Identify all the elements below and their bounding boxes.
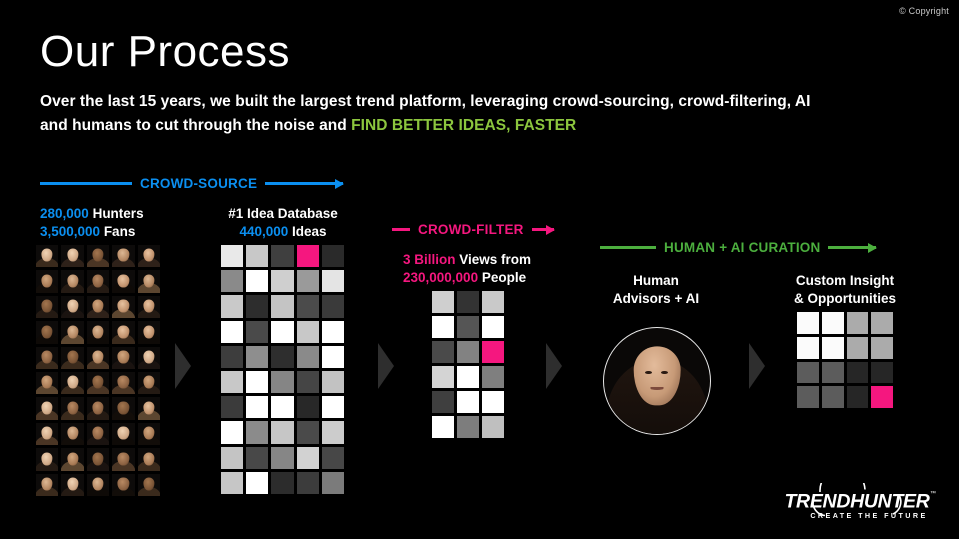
grid-cell: [457, 416, 479, 438]
grid-cell: [847, 337, 869, 359]
hunter-face-tile: [112, 423, 134, 445]
grid-cell: [457, 316, 479, 338]
grid-cell: [322, 346, 344, 368]
hunter-face-tile: [87, 321, 109, 343]
grid-cell: [221, 295, 243, 317]
grid-cell: [457, 341, 479, 363]
hunter-face-tile: [61, 245, 83, 267]
grid-cell: [246, 371, 268, 393]
grid-cell: [297, 472, 319, 494]
hunter-face-tile: [112, 372, 134, 394]
hunter-face-tile: [138, 448, 160, 470]
crowd-source-label: CROWD-SOURCE: [140, 176, 257, 191]
grid-cell: [246, 245, 268, 267]
hunter-face-tile: [87, 372, 109, 394]
grid-cell: [246, 321, 268, 343]
grid-cell: [797, 386, 819, 408]
grid-cell: [271, 396, 293, 418]
hunter-face-tile: [61, 423, 83, 445]
hunter-face-tile: [61, 474, 83, 496]
grid-cell: [432, 391, 454, 413]
hunter-face-tile: [61, 397, 83, 419]
section-header-human-ai: HUMAN + AI CURATION: [600, 240, 876, 255]
grid-cell: [297, 321, 319, 343]
human-ai-arrow-right: [828, 246, 876, 249]
grid-cell: [432, 416, 454, 438]
custom-insight-line-1: Custom Insight: [776, 272, 914, 290]
grid-cell: [297, 295, 319, 317]
hunter-face-tile: [112, 397, 134, 419]
grid-cell: [482, 341, 504, 363]
hunter-face-tile: [36, 372, 58, 394]
hunter-face-tile: [61, 347, 83, 369]
grid-cell: [246, 396, 268, 418]
hunter-face-tile: [138, 397, 160, 419]
grid-cell: [322, 321, 344, 343]
grid-cell: [271, 321, 293, 343]
grid-cell: [822, 312, 844, 334]
grid-cell: [221, 472, 243, 494]
chevron-separator-3: [546, 343, 562, 389]
subtitle-text: Over the last 15 years, we built the lar…: [40, 90, 840, 137]
idea-database-grid: [221, 245, 344, 494]
grid-cell: [871, 337, 893, 359]
grid-cell: [432, 291, 454, 313]
logo-tagline: CREATE THE FUTURE: [810, 511, 927, 520]
grid-cell: [322, 245, 344, 267]
ideas-label: Ideas: [288, 224, 326, 239]
grid-cell: [246, 270, 268, 292]
hunter-face-tile: [138, 270, 160, 292]
grid-cell: [221, 346, 243, 368]
grid-cell: [432, 316, 454, 338]
grid-cell: [271, 371, 293, 393]
grid-cell: [797, 312, 819, 334]
logo-wordmark: TRENDHUNTER: [784, 491, 929, 513]
hunter-face-tile: [61, 321, 83, 343]
ideas-number: 440,000: [239, 224, 288, 239]
hunter-face-tile: [87, 245, 109, 267]
views-label: Views from: [456, 252, 532, 267]
hunter-face-tile: [138, 245, 160, 267]
crowd-filter-grid: [432, 291, 504, 438]
grid-cell: [482, 416, 504, 438]
grid-cell: [822, 386, 844, 408]
grid-cell: [797, 362, 819, 384]
advisor-face-features: [604, 328, 710, 434]
page-title: Our Process: [40, 30, 290, 74]
grid-cell: [847, 386, 869, 408]
grid-cell: [297, 346, 319, 368]
grid-cell: [432, 366, 454, 388]
custom-insight-grid: [797, 312, 893, 408]
caption-views-people: 3 Billion Views from 230,000,000 People: [403, 251, 531, 287]
hunter-face-tile: [112, 321, 134, 343]
grid-cell: [457, 391, 479, 413]
grid-cell: [271, 447, 293, 469]
human-ai-label: HUMAN + AI CURATION: [664, 240, 820, 255]
hunter-face-tile: [61, 372, 83, 394]
trendhunter-logo: TRENDHUNTER ™ CREATE THE FUTURE: [773, 483, 941, 525]
section-header-crowd-source: CROWD-SOURCE: [40, 176, 343, 191]
grid-cell: [871, 386, 893, 408]
caption-idea-database: #1 Idea Database 440,000 Ideas: [220, 205, 346, 241]
hunter-face-tile: [112, 296, 134, 318]
hunter-face-tile: [112, 245, 134, 267]
grid-cell: [322, 295, 344, 317]
hunter-face-tile: [61, 448, 83, 470]
grid-cell: [482, 316, 504, 338]
grid-cell: [822, 337, 844, 359]
hunter-face-tile: [36, 474, 58, 496]
human-ai-rule-left: [600, 246, 656, 249]
idea-database-title: #1 Idea Database: [220, 205, 346, 223]
grid-cell: [822, 362, 844, 384]
grid-cell: [297, 245, 319, 267]
hunter-face-tile: [138, 423, 160, 445]
slide-canvas: © Copyright Our Process Over the last 15…: [0, 0, 959, 539]
crowd-source-arrow-right: [265, 182, 343, 185]
views-number: 3 Billion: [403, 252, 456, 267]
hunter-face-tile: [87, 397, 109, 419]
crowd-filter-arrow-right: [532, 228, 554, 231]
hunter-face-tile: [87, 423, 109, 445]
advisor-portrait-avatar: [603, 327, 711, 435]
subtitle-line-1: Over the last 15 years, we built the lar…: [40, 93, 810, 110]
grid-cell: [432, 341, 454, 363]
human-advisors-line-1: Human: [586, 272, 726, 290]
hunters-number: 280,000: [40, 206, 89, 221]
grid-cell: [322, 472, 344, 494]
grid-cell: [457, 291, 479, 313]
grid-cell: [221, 396, 243, 418]
hunter-face-tile: [87, 270, 109, 292]
hunter-face-tile: [87, 296, 109, 318]
grid-cell: [271, 245, 293, 267]
crowd-filter-label: CROWD-FILTER: [418, 222, 524, 237]
people-label: People: [478, 270, 526, 285]
grid-cell: [847, 312, 869, 334]
grid-cell: [322, 270, 344, 292]
custom-insight-line-2: & Opportunities: [776, 290, 914, 308]
grid-cell: [457, 366, 479, 388]
hunter-face-tile: [112, 448, 134, 470]
advisor-mouth: [651, 387, 664, 390]
human-advisors-line-2: Advisors + AI: [586, 290, 726, 308]
crowd-source-rule-left: [40, 182, 132, 185]
chevron-separator-2: [378, 343, 394, 389]
grid-cell: [246, 447, 268, 469]
grid-cell: [297, 447, 319, 469]
grid-cell: [221, 447, 243, 469]
logo-trademark: ™: [930, 490, 936, 497]
hunter-face-tile: [112, 347, 134, 369]
hunter-face-tile: [61, 270, 83, 292]
grid-cell: [297, 421, 319, 443]
fans-label: Fans: [100, 224, 135, 239]
grid-cell: [221, 421, 243, 443]
hunter-face-tile: [138, 321, 160, 343]
hunter-face-tile: [138, 347, 160, 369]
grid-cell: [271, 421, 293, 443]
grid-cell: [246, 295, 268, 317]
advisor-right-eye: [661, 371, 668, 375]
hunter-face-tile: [36, 296, 58, 318]
hunter-face-tile: [87, 474, 109, 496]
hunter-face-tile: [36, 397, 58, 419]
grid-cell: [322, 447, 344, 469]
grid-cell: [221, 245, 243, 267]
grid-cell: [482, 291, 504, 313]
hunter-face-tile: [61, 296, 83, 318]
advisor-left-eye: [645, 371, 652, 375]
hunter-face-tile: [138, 296, 160, 318]
hunter-face-tile: [87, 448, 109, 470]
subtitle-line-2-prefix: and humans to cut through the noise and: [40, 117, 351, 134]
grid-cell: [482, 391, 504, 413]
grid-cell: [322, 396, 344, 418]
grid-cell: [482, 366, 504, 388]
hunter-face-tile: [87, 347, 109, 369]
grid-cell: [297, 371, 319, 393]
hunter-face-tile: [36, 321, 58, 343]
grid-cell: [871, 312, 893, 334]
grid-cell: [847, 362, 869, 384]
grid-cell: [271, 472, 293, 494]
hunter-face-tile: [138, 474, 160, 496]
copyright-text: © Copyright: [899, 6, 949, 16]
hunter-face-tile: [36, 347, 58, 369]
grid-cell: [297, 396, 319, 418]
grid-cell: [797, 337, 819, 359]
section-header-crowd-filter: CROWD-FILTER: [392, 222, 554, 237]
hunters-label: Hunters: [89, 206, 144, 221]
grid-cell: [271, 346, 293, 368]
grid-cell: [271, 295, 293, 317]
caption-hunters-fans: 280,000 Hunters 3,500,000 Fans: [40, 205, 144, 241]
hunter-face-tile: [138, 372, 160, 394]
hunter-face-tile: [36, 423, 58, 445]
hunter-face-tile: [36, 448, 58, 470]
grid-cell: [221, 371, 243, 393]
grid-cell: [221, 270, 243, 292]
grid-cell: [297, 270, 319, 292]
grid-cell: [871, 362, 893, 384]
hunter-face-tile: [36, 245, 58, 267]
caption-custom-insight: Custom Insight & Opportunities: [776, 272, 914, 308]
hunter-face-tile: [112, 270, 134, 292]
grid-cell: [246, 472, 268, 494]
grid-cell: [322, 421, 344, 443]
grid-cell: [221, 321, 243, 343]
subtitle-highlight: FIND BETTER IDEAS, FASTER: [351, 117, 576, 134]
caption-human-advisors: Human Advisors + AI: [586, 272, 726, 308]
hunter-face-tile: [36, 270, 58, 292]
grid-cell: [246, 421, 268, 443]
grid-cell: [246, 346, 268, 368]
crowd-filter-rule-left: [392, 228, 410, 231]
grid-cell: [322, 371, 344, 393]
hunter-faces-grid: [36, 245, 160, 496]
grid-cell: [271, 270, 293, 292]
people-number: 230,000,000: [403, 270, 478, 285]
hunter-face-tile: [112, 474, 134, 496]
chevron-separator-1: [175, 343, 191, 389]
fans-number: 3,500,000: [40, 224, 100, 239]
chevron-separator-4: [749, 343, 765, 389]
